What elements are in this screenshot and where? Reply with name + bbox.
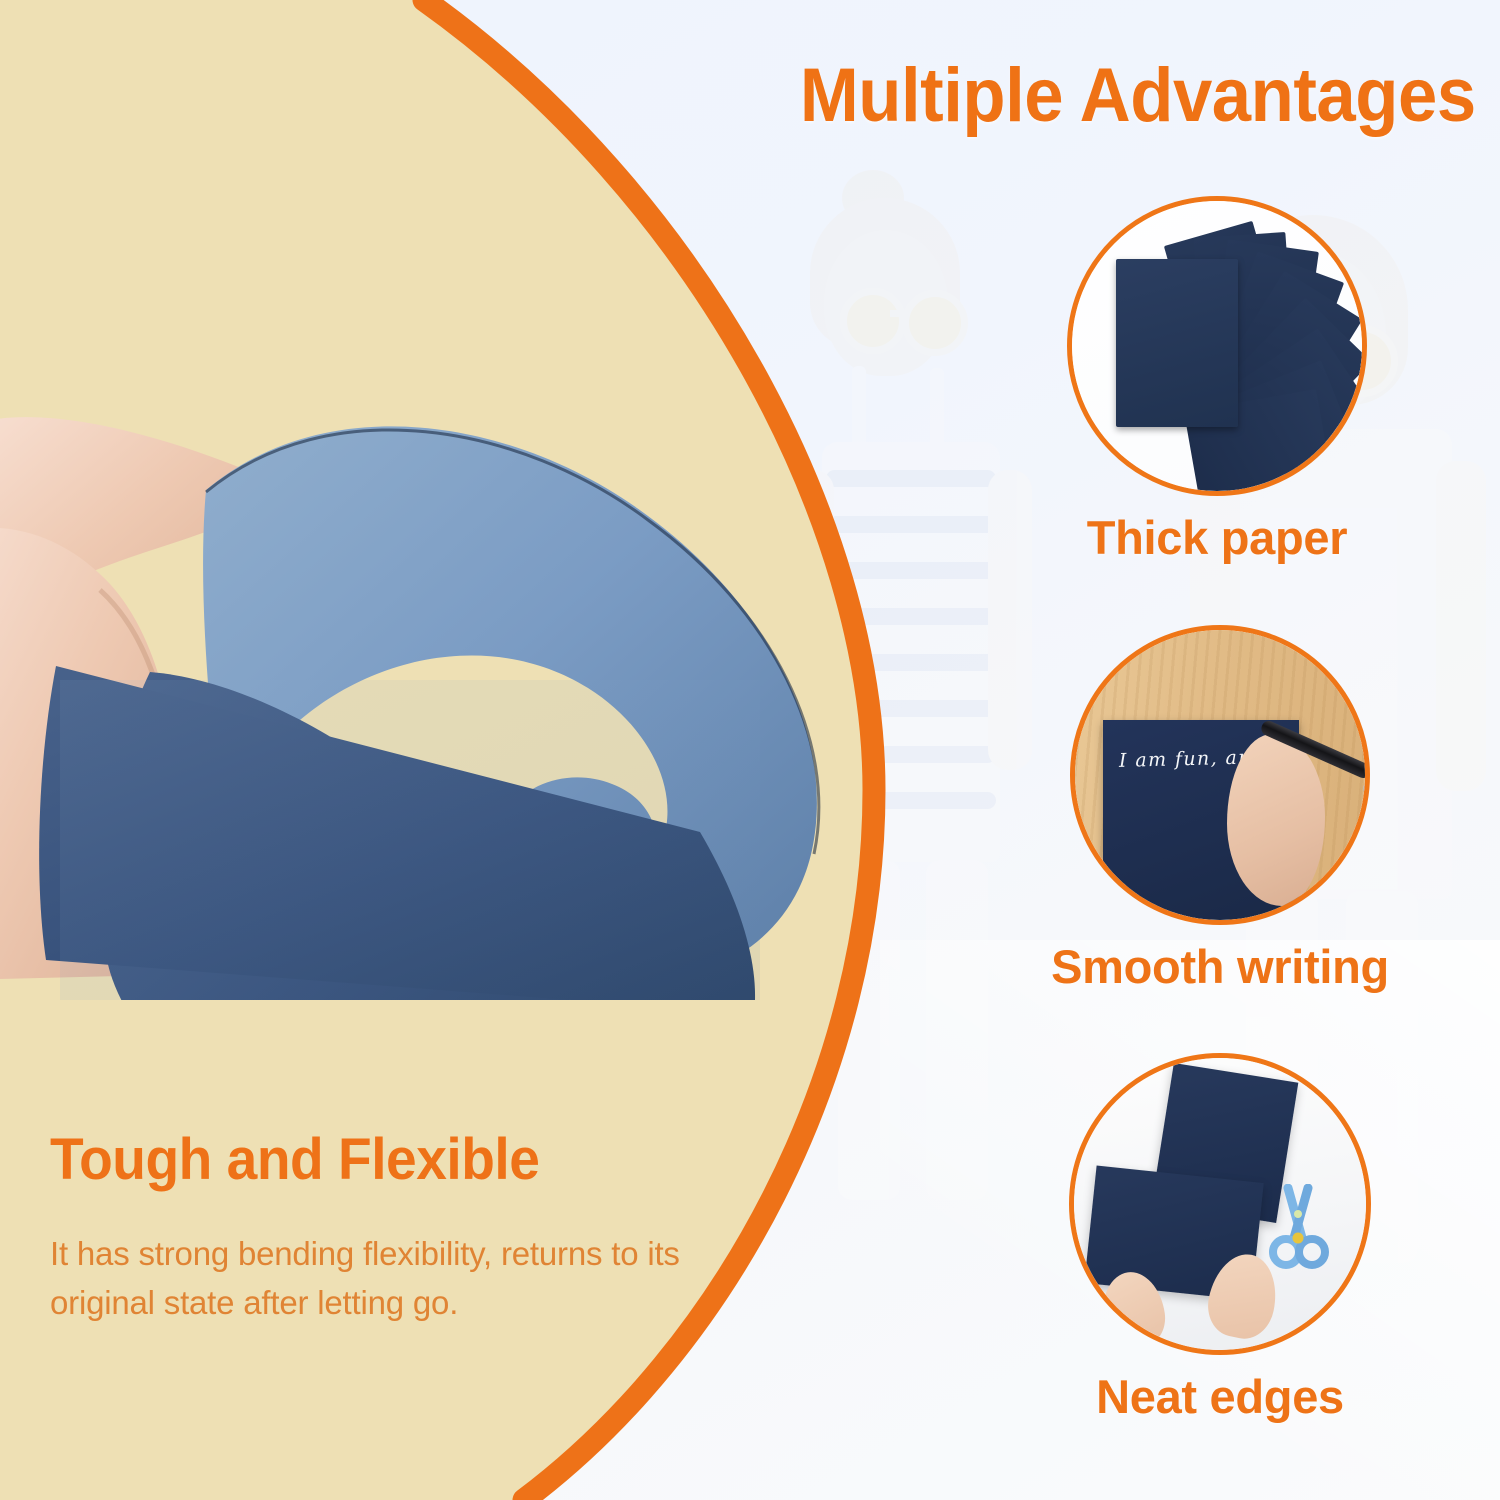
writing-on-navy-card-photo: I am fun, and [1075, 630, 1365, 920]
left-panel-body-text: It has strong bending flexibility, retur… [50, 1230, 780, 1328]
feature-label-neat-edges: Neat edges [1050, 1369, 1390, 1424]
feature-smooth-writing: I am fun, and Smooth writing [1030, 625, 1410, 994]
feature-photo-circle-neat-edges [1069, 1053, 1371, 1355]
writing-hand [1227, 734, 1325, 906]
feature-thick-paper: Thick paper [1052, 196, 1382, 565]
fanned-paper-stack-photo [1072, 201, 1362, 491]
feature-photo-circle-smooth-writing: I am fun, and [1070, 625, 1370, 925]
feature-neat-edges: Neat edges [1050, 1053, 1390, 1424]
product-infographic-poster: Multiple Advantages Tough and Flexible I… [0, 0, 1500, 1500]
feature-label-smooth-writing: Smooth writing [1030, 939, 1410, 994]
cut-sheets-with-scissors-photo [1074, 1058, 1366, 1350]
feature-photo-circle-thick-paper [1067, 196, 1367, 496]
hero-photo-hand-bending-paper [0, 380, 900, 1000]
page-title: Multiple Advantages [800, 58, 1476, 134]
left-panel-heading: Tough and Flexible [50, 1126, 539, 1193]
feature-label-thick-paper: Thick paper [1052, 510, 1382, 565]
scissors-icon [1258, 1184, 1336, 1270]
paper-texture [60, 680, 760, 1000]
